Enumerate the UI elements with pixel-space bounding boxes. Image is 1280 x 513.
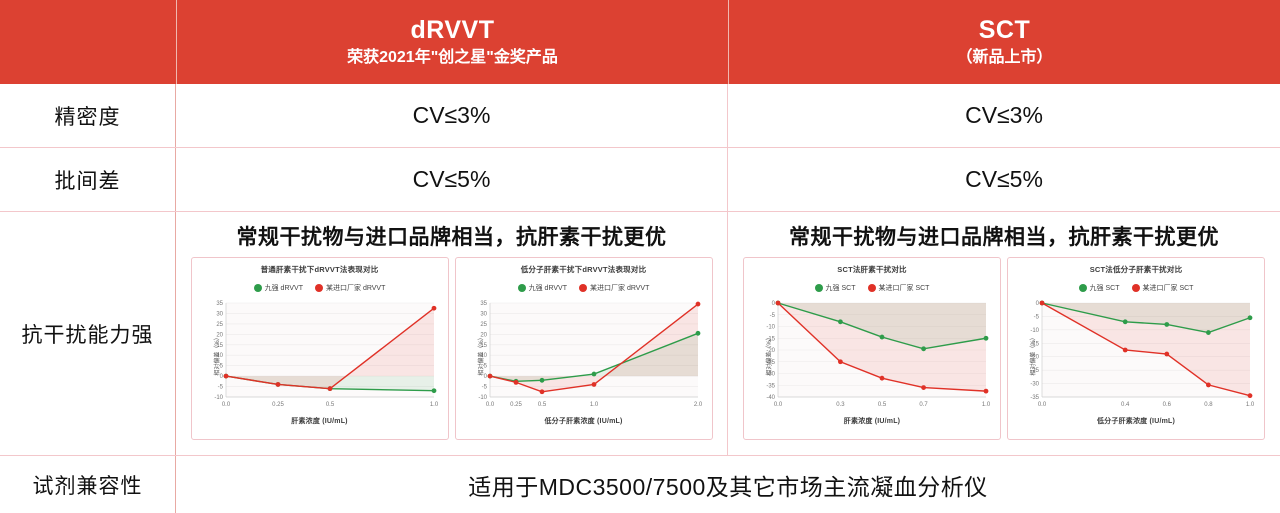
svg-text:1.0: 1.0: [1246, 402, 1255, 408]
svg-text:30: 30: [480, 311, 487, 317]
y-axis-title: 相对偏差（%）: [1028, 334, 1037, 375]
svg-text:-40: -40: [766, 395, 775, 401]
svg-text:1.0: 1.0: [589, 402, 598, 408]
svg-text:35: 35: [480, 301, 487, 307]
legend-label: 某进口厂家 SCT: [879, 283, 930, 293]
legend-item: 九强 SCT: [815, 283, 856, 293]
legend-label: 九强 SCT: [1090, 283, 1120, 293]
row-precision: 精密度 CV≤3% CV≤3%: [0, 84, 1280, 148]
svg-text:1.0: 1.0: [429, 402, 438, 408]
legend-marker-icon: [815, 284, 823, 292]
precision-drvvt-value: CV≤3%: [413, 102, 491, 129]
chart-plot-area: -35-30-25-20-15-10-500.00.40.60.81.0相对偏差…: [1014, 297, 1258, 413]
svg-text:2.0: 2.0: [693, 402, 702, 408]
legend-marker-icon: [868, 284, 876, 292]
sct-title: SCT: [979, 17, 1031, 45]
legend-marker-icon: [254, 284, 262, 292]
svg-text:1.0: 1.0: [982, 402, 991, 408]
svg-text:-10: -10: [766, 325, 775, 331]
chart-plot-area: -40-35-30-25-20-15-10-500.00.30.50.71.0相…: [750, 297, 994, 413]
x-axis-title: 肝素浓度 (IU/mL): [844, 416, 900, 426]
row-label-compatibility: 试剂兼容性: [0, 456, 176, 513]
legend-item: 九强 dRVVT: [254, 283, 303, 293]
svg-text:0.0: 0.0: [485, 402, 494, 408]
svg-text:-5: -5: [217, 385, 223, 391]
chart-1: 低分子肝素干扰下dRVVT法表现对比九强 dRVVT某进口厂家 dRVVT-10…: [455, 257, 713, 440]
legend-item: 九强 SCT: [1079, 283, 1120, 293]
svg-text:25: 25: [216, 322, 223, 328]
precision-sct-cell: CV≤3%: [728, 84, 1280, 147]
chart-title: 普通肝素干扰下dRVVT法表现对比: [261, 264, 379, 275]
svg-text:-5: -5: [481, 385, 487, 391]
legend-item: 某进口厂家 dRVVT: [315, 283, 385, 293]
x-axis-title: 低分子肝素浓度 (IU/mL): [544, 416, 622, 426]
svg-text:0.3: 0.3: [836, 402, 845, 408]
legend-item: 某进口厂家 SCT: [1132, 283, 1194, 293]
header-cell-drvvt: dRVVT 荣获2021年"创之星"金奖产品: [176, 0, 728, 84]
legend-label: 九强 dRVVT: [529, 283, 567, 293]
y-axis-title: 相对偏差（%）: [476, 334, 485, 375]
row-batch-variation: 批间差 CV≤5% CV≤5%: [0, 148, 1280, 212]
chart-3: SCT法低分子肝素干扰对比九强 SCT某进口厂家 SCT-35-30-25-20…: [1007, 257, 1265, 440]
interference-drvvt-headline: 常规干扰物与进口品牌相当，抗肝素干扰更优: [237, 221, 667, 251]
legend-item: 某进口厂家 SCT: [868, 283, 930, 293]
compatibility-label: 试剂兼容性: [33, 470, 143, 500]
legend-item: 九强 dRVVT: [518, 283, 567, 293]
svg-text:-5: -5: [1034, 314, 1040, 320]
svg-text:0.25: 0.25: [272, 402, 284, 408]
x-axis-title: 低分子肝素浓度 (IU/mL): [1097, 416, 1175, 426]
precision-drvvt-cell: CV≤3%: [176, 84, 728, 147]
row-label-interference: 抗干扰能力强: [0, 212, 176, 455]
svg-text:-30: -30: [1030, 382, 1039, 388]
chart-title: 低分子肝素干扰下dRVVT法表现对比: [521, 264, 647, 275]
y-axis-title: 相对偏差（%）: [212, 334, 221, 375]
legend-marker-icon: [579, 284, 587, 292]
svg-text:0.8: 0.8: [1204, 402, 1213, 408]
batch-label: 批间差: [55, 165, 121, 195]
svg-text:0.0: 0.0: [221, 402, 230, 408]
legend-marker-icon: [1132, 284, 1140, 292]
legend-label: 某进口厂家 SCT: [1143, 283, 1194, 293]
legend-marker-icon: [518, 284, 526, 292]
svg-text:0.5: 0.5: [878, 402, 887, 408]
batch-drvvt-value: CV≤5%: [413, 166, 491, 193]
x-axis-title: 肝素浓度 (IU/mL): [291, 416, 347, 426]
comparison-table: dRVVT 荣获2021年"创之星"金奖产品 SCT （新品上市） 精密度 CV…: [0, 0, 1280, 513]
svg-text:25: 25: [480, 322, 487, 328]
drvvt-title: dRVVT: [411, 17, 495, 45]
svg-text:-35: -35: [766, 383, 775, 389]
interference-sct-cell: 常规干扰物与进口品牌相当，抗肝素干扰更优 SCT法肝素干扰对比九强 SCT某进口…: [728, 212, 1280, 455]
svg-text:0.25: 0.25: [510, 402, 522, 408]
svg-text:0: 0: [772, 301, 776, 307]
interference-drvvt-cell: 常规干扰物与进口品牌相当，抗肝素干扰更优 普通肝素干扰下dRVVT法表现对比九强…: [176, 212, 728, 455]
legend-label: 某进口厂家 dRVVT: [326, 283, 385, 293]
drvvt-subtitle: 荣获2021年"创之星"金奖产品: [347, 49, 558, 67]
svg-text:-10: -10: [1030, 328, 1039, 334]
row-interference: 抗干扰能力强 常规干扰物与进口品牌相当，抗肝素干扰更优 普通肝素干扰下dRVVT…: [0, 212, 1280, 456]
precision-label: 精密度: [55, 101, 121, 131]
svg-text:35: 35: [216, 301, 223, 307]
svg-text:-10: -10: [214, 395, 223, 401]
legend-item: 某进口厂家 dRVVT: [579, 283, 649, 293]
batch-sct-value: CV≤5%: [965, 166, 1043, 193]
chart-title: SCT法肝素干扰对比: [837, 264, 907, 275]
svg-text:0.5: 0.5: [537, 402, 546, 408]
svg-text:0.4: 0.4: [1121, 402, 1130, 408]
svg-text:0.6: 0.6: [1163, 402, 1172, 408]
svg-text:-35: -35: [1030, 395, 1039, 401]
batch-sct-cell: CV≤5%: [728, 148, 1280, 211]
y-axis-title: 相对偏差（%）: [764, 334, 773, 375]
svg-text:0.5: 0.5: [325, 402, 334, 408]
row-compatibility: 试剂兼容性 适用于MDC3500/7500及其它市场主流凝血分析仪: [0, 456, 1280, 513]
chart-legend: 九强 SCT某进口厂家 SCT: [815, 283, 930, 293]
svg-text:-10: -10: [478, 395, 487, 401]
header-cell-sct: SCT （新品上市）: [728, 0, 1280, 84]
svg-text:0.0: 0.0: [774, 402, 783, 408]
chart-2: SCT法肝素干扰对比九强 SCT某进口厂家 SCT-40-35-30-25-20…: [743, 257, 1001, 440]
chart-legend: 九强 dRVVT某进口厂家 dRVVT: [254, 283, 386, 293]
legend-label: 九强 dRVVT: [265, 283, 303, 293]
table-header-row: dRVVT 荣获2021年"创之星"金奖产品 SCT （新品上市）: [0, 0, 1280, 84]
row-label-batch: 批间差: [0, 148, 176, 211]
drvvt-chart-pair: 普通肝素干扰下dRVVT法表现对比九强 dRVVT某进口厂家 dRVVT-10-…: [191, 257, 713, 440]
chart-plot-area: -10-5051015202530350.00.250.51.02.0相对偏差（…: [462, 297, 706, 413]
svg-text:-5: -5: [770, 313, 776, 319]
interference-label: 抗干扰能力强: [22, 319, 154, 349]
sct-subtitle: （新品上市）: [956, 49, 1052, 67]
svg-text:0.7: 0.7: [919, 402, 928, 408]
svg-text:0.0: 0.0: [1038, 402, 1047, 408]
sct-chart-pair: SCT法肝素干扰对比九强 SCT某进口厂家 SCT-40-35-30-25-20…: [743, 257, 1265, 440]
legend-label: 某进口厂家 dRVVT: [590, 283, 649, 293]
svg-text:30: 30: [216, 311, 223, 317]
chart-plot-area: -10-5051015202530350.00.250.51.0相对偏差（%）: [198, 297, 442, 413]
legend-label: 九强 SCT: [826, 283, 856, 293]
chart-legend: 九强 SCT某进口厂家 SCT: [1079, 283, 1194, 293]
legend-marker-icon: [1079, 284, 1087, 292]
interference-sct-headline: 常规干扰物与进口品牌相当，抗肝素干扰更优: [789, 221, 1219, 251]
legend-marker-icon: [315, 284, 323, 292]
svg-text:0: 0: [1036, 301, 1040, 307]
header-cell-blank: [0, 0, 176, 84]
compatibility-value: 适用于MDC3500/7500及其它市场主流凝血分析仪: [468, 468, 988, 502]
chart-0: 普通肝素干扰下dRVVT法表现对比九强 dRVVT某进口厂家 dRVVT-10-…: [191, 257, 449, 440]
batch-drvvt-cell: CV≤5%: [176, 148, 728, 211]
chart-title: SCT法低分子肝素干扰对比: [1090, 264, 1183, 275]
row-label-precision: 精密度: [0, 84, 176, 147]
chart-legend: 九强 dRVVT某进口厂家 dRVVT: [518, 283, 650, 293]
precision-sct-value: CV≤3%: [965, 102, 1043, 129]
compatibility-value-cell: 适用于MDC3500/7500及其它市场主流凝血分析仪: [176, 456, 1280, 513]
